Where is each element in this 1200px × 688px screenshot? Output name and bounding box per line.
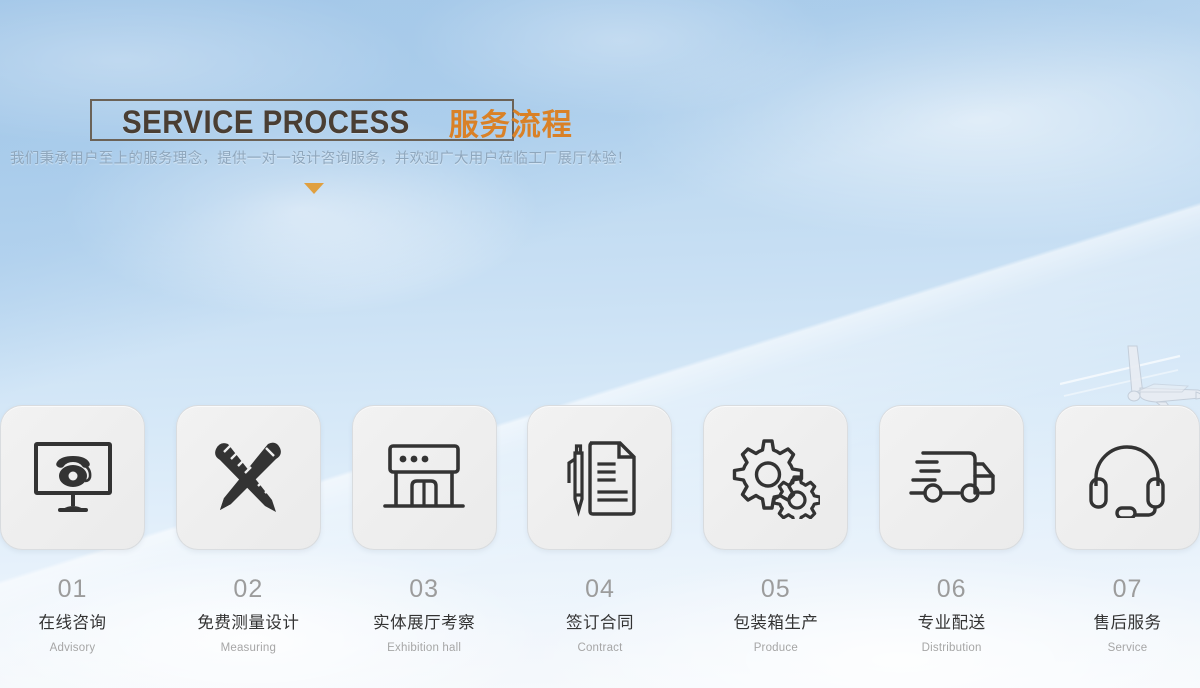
step-label-en: Exhibition hall: [387, 643, 461, 655]
pen-document-icon: [558, 437, 642, 519]
step-icon-card[interactable]: [0, 405, 145, 550]
step-label-cn: 免费测量设计: [197, 615, 299, 632]
step-number: 04: [585, 577, 615, 602]
service-process-steps: 01 在线咨询 Advisory 02: [0, 405, 1200, 688]
step-item[interactable]: 06 专业配送 Distribution: [879, 405, 1024, 688]
step-number: 02: [233, 577, 263, 602]
step-item[interactable]: 04 签订合同 Contract: [527, 405, 672, 688]
step-icon-card[interactable]: [703, 405, 848, 550]
step-number: 03: [409, 577, 439, 602]
page-title-en: SERVICE PROCESS: [122, 104, 410, 141]
page-subtitle: 我们秉承用户至上的服务理念，提供一对一设计咨询服务，并欢迎广大用户莅临工厂展厅体…: [10, 147, 910, 168]
step-number: 01: [58, 577, 88, 602]
step-label-en: Service: [1108, 643, 1148, 655]
step-number: 05: [761, 577, 791, 602]
step-label-cn: 签订合同: [566, 615, 634, 632]
step-number: 07: [1113, 577, 1143, 602]
step-item[interactable]: 07 售后服务 Service: [1055, 405, 1200, 688]
step-icon-card[interactable]: [879, 405, 1024, 550]
triangle-marker-icon: [304, 183, 324, 194]
step-label-en: Measuring: [221, 643, 277, 655]
step-label-cn: 实体展厅考察: [373, 615, 475, 632]
step-label-en: Distribution: [922, 643, 982, 655]
step-number: 06: [937, 577, 967, 602]
step-icon-card[interactable]: [352, 405, 497, 550]
step-label-cn: 在线咨询: [39, 615, 107, 632]
storefront-icon: [381, 442, 467, 514]
step-label-en: Contract: [577, 643, 622, 655]
step-label-cn: 专业配送: [918, 615, 986, 632]
gears-icon: [732, 437, 820, 519]
title-row: SERVICE PROCESS 服务流程: [110, 100, 585, 144]
pencil-ruler-icon: [206, 436, 290, 520]
step-icon-card[interactable]: [527, 405, 672, 550]
step-item[interactable]: 05 包装箱生产 Produce: [703, 405, 848, 688]
monitor-phone-icon: [30, 438, 116, 518]
step-item[interactable]: 01 在线咨询 Advisory: [0, 405, 145, 688]
step-label-en: Produce: [754, 643, 798, 655]
step-item[interactable]: 03 实体展厅考察 Exhibition hall: [352, 405, 497, 688]
step-icon-card[interactable]: [176, 405, 321, 550]
step-icon-card[interactable]: [1055, 405, 1200, 550]
step-label-cn: 包装箱生产: [733, 615, 818, 632]
step-label-cn: 售后服务: [1093, 615, 1161, 632]
step-label-en: Advisory: [50, 643, 96, 655]
delivery-truck-icon: [907, 445, 997, 511]
step-item[interactable]: 02 免费测量设计 Measuring: [176, 405, 321, 688]
page-title-cn: 服务流程: [449, 100, 573, 144]
headset-icon: [1087, 438, 1167, 518]
